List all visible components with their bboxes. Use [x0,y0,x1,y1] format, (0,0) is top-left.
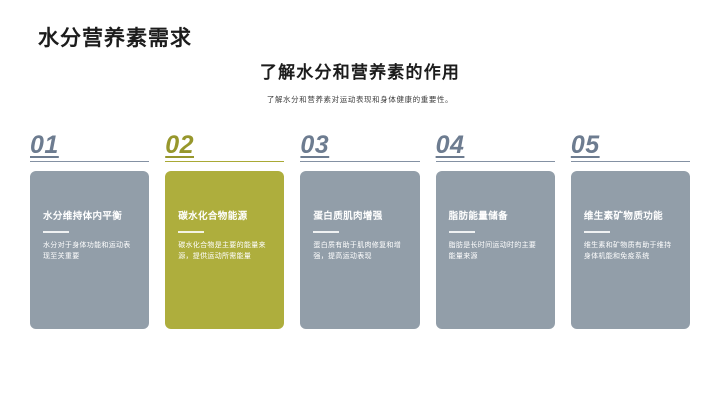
card-title-3: 蛋白质肌肉增强 [313,211,406,223]
number-underline-1: 01 [30,132,149,162]
slide-canvas: 水分营养素需求 了解水分和营养素的作用 了解水分和营养素对运动表现和身体健康的重… [0,0,720,404]
number-underline-4: 04 [436,132,555,162]
card-title-2: 碳水化合物能源 [178,211,271,223]
card-1[interactable]: 水分维持体内平衡 水分对于身体功能和运动表现至关重要 [30,171,149,329]
card-column-3: 03 蛋白质肌肉增强 蛋白质有助于肌肉修复和增强，提高运动表现 [300,132,419,329]
card-body-5: 维生素和矿物质有助于维持身体机能和免疫系统 [584,240,677,263]
card-divider-4 [449,231,475,233]
card-row: 01 水分维持体内平衡 水分对于身体功能和运动表现至关重要 02 碳水化合物能源… [30,132,690,329]
card-column-4: 04 脂肪能量储备 脂肪是长时间运动时的主要能量来源 [436,132,555,329]
card-4[interactable]: 脂肪能量储备 脂肪是长时间运动时的主要能量来源 [436,171,555,329]
card-title-4: 脂肪能量储备 [449,211,542,223]
heading-block: 了解水分和营养素的作用 了解水分和营养素对运动表现和身体健康的重要性。 [0,62,720,105]
card-divider-1 [43,231,69,233]
card-column-5: 05 维生素矿物质功能 维生素和矿物质有助于维持身体机能和免疫系统 [571,132,690,329]
number-underline-2: 02 [165,132,284,162]
number-underline-3: 03 [300,132,419,162]
card-column-1: 01 水分维持体内平衡 水分对于身体功能和运动表现至关重要 [30,132,149,329]
card-divider-2 [178,231,204,233]
card-3[interactable]: 蛋白质肌肉增强 蛋白质有助于肌肉修复和增强，提高运动表现 [300,171,419,329]
card-number-3: 03 [300,132,419,158]
card-divider-5 [584,231,610,233]
card-number-1: 01 [30,132,149,158]
card-number-2: 02 [165,132,284,158]
card-body-1: 水分对于身体功能和运动表现至关重要 [43,240,136,263]
card-body-3: 蛋白质有助于肌肉修复和增强，提高运动表现 [313,240,406,263]
number-underline-5: 05 [571,132,690,162]
card-title-5: 维生素矿物质功能 [584,211,677,223]
card-2[interactable]: 碳水化合物能源 碳水化合物是主要的能量来源，提供运动所需能量 [165,171,284,329]
card-body-4: 脂肪是长时间运动时的主要能量来源 [449,240,542,263]
card-title-1: 水分维持体内平衡 [43,211,136,223]
page-title: 水分营养素需求 [38,26,192,51]
card-number-5: 05 [571,132,690,158]
card-body-2: 碳水化合物是主要的能量来源，提供运动所需能量 [178,240,271,263]
card-divider-3 [313,231,339,233]
card-5[interactable]: 维生素矿物质功能 维生素和矿物质有助于维持身体机能和免疫系统 [571,171,690,329]
sub-heading: 了解水分和营养素对运动表现和身体健康的重要性。 [0,95,720,105]
card-number-4: 04 [436,132,555,158]
card-column-2: 02 碳水化合物能源 碳水化合物是主要的能量来源，提供运动所需能量 [165,132,284,329]
main-heading: 了解水分和营养素的作用 [0,62,720,84]
